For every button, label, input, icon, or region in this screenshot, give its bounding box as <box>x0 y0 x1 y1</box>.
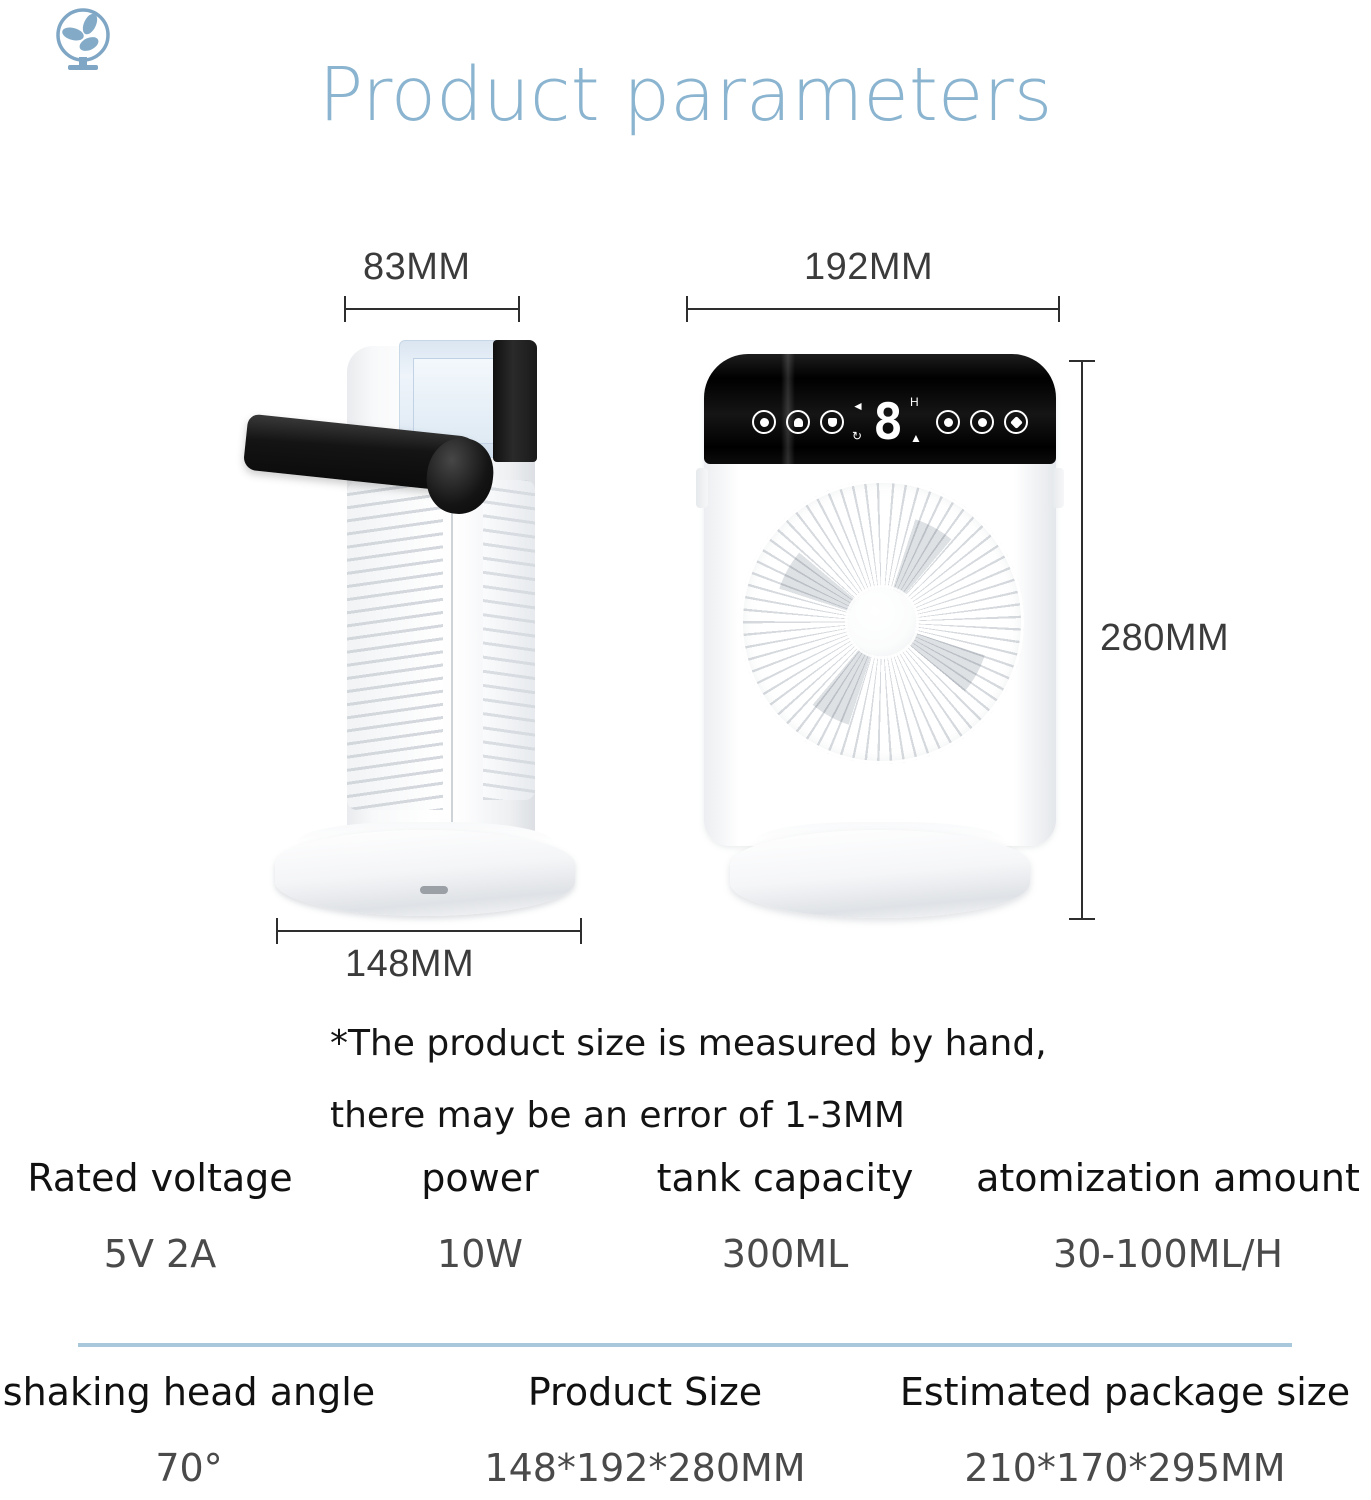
spec-header-row-2: shaking head angle Product Size Estimate… <box>0 1362 1371 1438</box>
fan-side-control-panel-edge <box>493 340 537 462</box>
spec-header-tank-capacity: tank capacity <box>640 1148 930 1208</box>
dimension-label-83mm: 83MM <box>363 246 471 289</box>
fan-speed-down-button[interactable] <box>820 410 844 434</box>
up-arrow-indicator: ▲ <box>910 432 922 444</box>
spec-value-shaking-head-angle: 70° <box>0 1438 384 1498</box>
size-disclaimer: *The product size is measured by hand, t… <box>330 1008 1130 1152</box>
fan-side-grille-left <box>347 480 443 810</box>
spec-value-estimated-package-size: 210*170*295MM <box>890 1438 1360 1498</box>
spec-header-shaking-head-angle: shaking head angle <box>0 1362 384 1422</box>
light-button[interactable] <box>1004 410 1028 434</box>
dimension-label-192mm: 192MM <box>804 246 933 289</box>
fan-front-base <box>730 830 1030 918</box>
dimension-line-192mm <box>686 296 1060 322</box>
timer-button[interactable] <box>970 410 994 434</box>
hour-indicator: H <box>910 396 919 408</box>
mist-button[interactable] <box>936 410 960 434</box>
fan-side-tab-right <box>1052 468 1064 508</box>
spec-value-power: 10W <box>350 1224 610 1284</box>
spec-value-product-size: 148*192*280MM <box>470 1438 820 1498</box>
spec-table-2: shaking head angle Product Size Estimate… <box>0 1362 1371 1500</box>
dimension-label-148mm: 148MM <box>345 943 474 986</box>
fan-side-view <box>255 330 595 930</box>
spec-header-rated-voltage: Rated voltage <box>10 1148 310 1208</box>
fan-side-grille-right <box>483 480 535 800</box>
fan-side-tab-left <box>696 468 708 508</box>
spec-header-atomization-amount: atomization amount <box>962 1148 1371 1208</box>
dimension-line-280mm <box>1069 360 1095 920</box>
spec-header-estimated-package-size: Estimated package size <box>890 1362 1360 1422</box>
usb-c-port <box>420 886 448 894</box>
dimension-line-83mm <box>344 296 520 322</box>
spec-value-row-1: 5V 2A 10W 300ML 30-100ML/H <box>0 1224 1371 1300</box>
refresh-indicator: ↻ <box>852 430 862 442</box>
spec-value-atomization-amount: 30-100ML/H <box>962 1224 1371 1284</box>
spec-divider <box>78 1343 1292 1347</box>
fan-front-view: ◄ ↻ 8 H ▲ <box>690 340 1070 920</box>
spec-table: Rated voltage power tank capacity atomiz… <box>0 1148 1371 1300</box>
power-button[interactable] <box>752 410 776 434</box>
page-title: Product parameters <box>0 58 1371 132</box>
spec-value-tank-capacity: 300ML <box>640 1224 930 1284</box>
control-panel: ◄ ↻ 8 H ▲ <box>704 354 1056 464</box>
spec-value-rated-voltage: 5V 2A <box>10 1224 310 1284</box>
fan-hub <box>848 588 916 656</box>
dimension-label-280mm: 280MM <box>1100 617 1229 660</box>
fan-speed-up-button[interactable] <box>786 410 810 434</box>
left-arrow-indicator: ◄ <box>852 400 864 412</box>
fan-side-base <box>275 830 575 916</box>
spec-value-row-2: 70° 148*192*280MM 210*170*295MM <box>0 1438 1371 1500</box>
product-parameters-page: Product parameters 83MM 192MM 280MM 148M… <box>0 0 1371 1500</box>
dimension-line-148mm <box>276 918 582 944</box>
spec-header-product-size: Product Size <box>470 1362 820 1422</box>
spec-header-power: power <box>350 1148 610 1208</box>
digit-display: 8 <box>867 396 907 450</box>
spec-header-row-1: Rated voltage power tank capacity atomiz… <box>0 1148 1371 1224</box>
